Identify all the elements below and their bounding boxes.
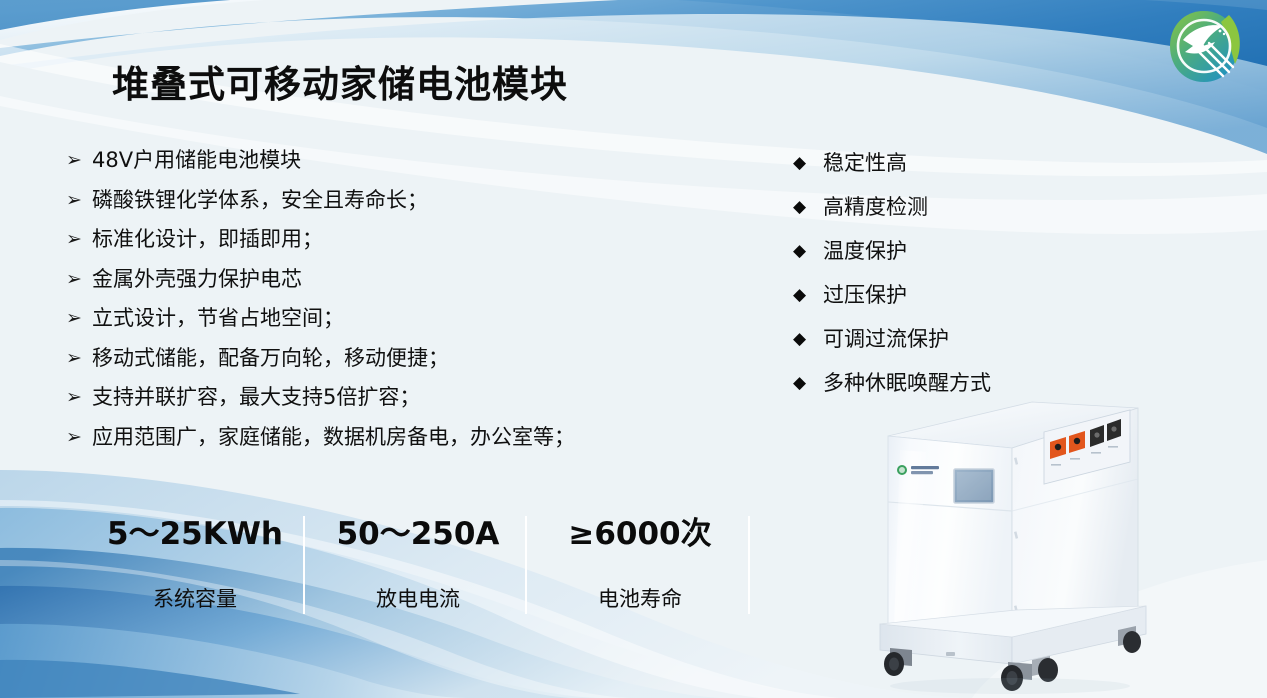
spec-item-cycle-life: ≥6000次 电池寿命 (525, 508, 755, 613)
arrow-bullet-icon: ➢ (66, 346, 92, 371)
diamond-bullet-icon: ◆ (793, 150, 823, 176)
arrow-bullet-icon: ➢ (66, 385, 92, 410)
feature-text: 过压保护 (823, 282, 907, 308)
diamond-bullet-icon: ◆ (793, 326, 823, 352)
spec-highlights: 5～25KWh 系统容量 50～250A 放电电流 ≥6000次 电池寿命 (80, 508, 780, 623)
leaf-circuit-logo-icon (1163, 6, 1245, 88)
list-item: ◆ 可调过流保护 (793, 326, 1093, 352)
list-item: ➢ 支持并联扩容，最大支持5倍扩容； (66, 385, 726, 410)
arrow-bullet-icon: ➢ (66, 267, 92, 292)
feature-text: 立式设计，节省占地空间； (92, 306, 344, 331)
diamond-bullet-icon: ◆ (793, 370, 823, 396)
spec-value: ≥6000次 (525, 508, 755, 553)
list-item: ➢ 48V户用储能电池模块 (66, 148, 726, 173)
product-caster (884, 648, 912, 676)
arrow-bullet-icon: ➢ (66, 188, 92, 213)
feature-text: 稳定性高 (823, 150, 907, 176)
feature-text: 温度保护 (823, 238, 907, 264)
list-item: ➢ 磷酸铁锂化学体系，安全且寿命长； (66, 188, 726, 213)
list-item: ➢ 移动式储能，配备万向轮，移动便捷； (66, 346, 726, 371)
diamond-bullet-icon: ◆ (793, 282, 823, 308)
feature-text: 磷酸铁锂化学体系，安全且寿命长； (92, 188, 428, 213)
diamond-bullet-icon: ◆ (793, 194, 823, 220)
arrow-bullet-icon: ➢ (66, 306, 92, 331)
feature-text: 48V户用储能电池模块 (92, 148, 301, 173)
feature-text: 应用范围广，家庭储能，数据机房备电，办公室等； (92, 425, 575, 450)
slide-root: 堆叠式可移动家储电池模块 ➢ 48V户用储能电池模块 ➢ 磷酸铁锂化学体系，安全… (0, 0, 1267, 698)
spec-item-capacity: 5～25KWh 系统容量 (80, 508, 310, 613)
list-item: ◆ 稳定性高 (793, 150, 1093, 176)
feature-text: 移动式储能，配备万向轮，移动便捷； (92, 346, 449, 371)
list-item: ◆ 过压保护 (793, 282, 1093, 308)
spec-label: 电池寿命 (525, 583, 755, 613)
list-item: ➢ 应用范围广，家庭储能，数据机房备电，办公室等； (66, 425, 726, 450)
spec-item-current: 50～250A 放电电流 (303, 508, 533, 613)
slide-title: 堆叠式可移动家储电池模块 (112, 54, 568, 108)
spec-value: 5～25KWh (80, 508, 310, 553)
product-photo (860, 380, 1160, 698)
diamond-bullet-icon: ◆ (793, 238, 823, 264)
right-feature-list: ◆ 稳定性高 ◆ 高精度检测 ◆ 温度保护 ◆ 过压保护 ◆ 可调过流保护 ◆ … (793, 150, 1093, 414)
company-logo (1163, 6, 1245, 88)
arrow-bullet-icon: ➢ (66, 148, 92, 173)
spec-label: 放电电流 (303, 583, 533, 613)
list-item: ◆ 温度保护 (793, 238, 1093, 264)
feature-text: 可调过流保护 (823, 326, 949, 352)
list-item: ◆ 高精度检测 (793, 194, 1093, 220)
feature-text: 金属外壳强力保护电芯 (92, 267, 302, 292)
spec-label: 系统容量 (80, 583, 310, 613)
list-item: ➢ 金属外壳强力保护电芯 (66, 267, 726, 292)
left-feature-list: ➢ 48V户用储能电池模块 ➢ 磷酸铁锂化学体系，安全且寿命长； ➢ 标准化设计… (66, 148, 726, 464)
arrow-bullet-icon: ➢ (66, 227, 92, 252)
feature-text: 支持并联扩容，最大支持5倍扩容； (92, 385, 420, 410)
feature-text: 标准化设计，即插即用； (92, 227, 323, 252)
list-item: ➢ 立式设计，节省占地空间； (66, 306, 726, 331)
feature-text: 高精度检测 (823, 194, 928, 220)
arrow-bullet-icon: ➢ (66, 425, 92, 450)
spec-value: 50～250A (303, 508, 533, 553)
list-item: ➢ 标准化设计，即插即用； (66, 227, 726, 252)
